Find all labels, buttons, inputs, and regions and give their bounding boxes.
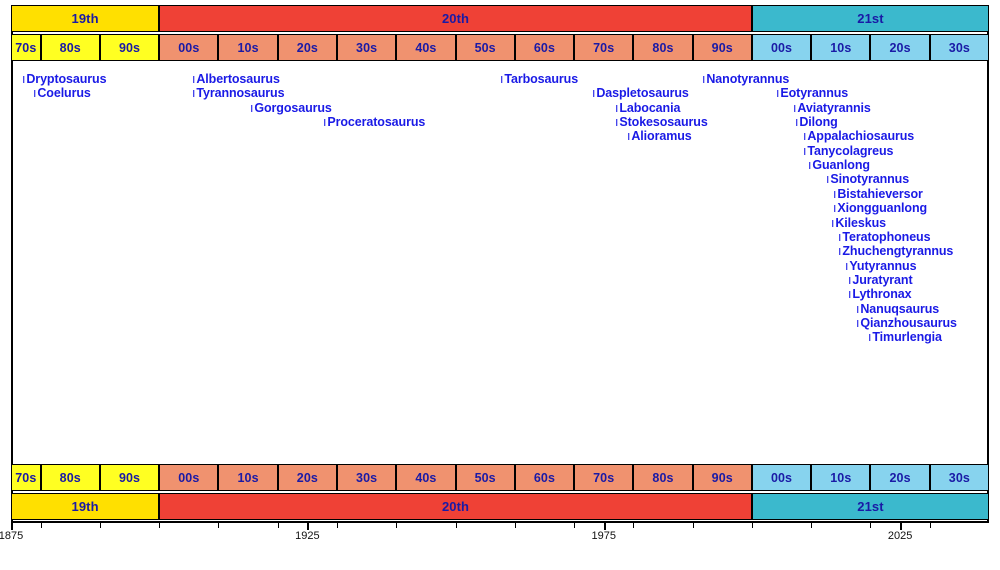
axis-tick-minor	[100, 521, 101, 528]
tick-marker-icon: ı	[833, 187, 836, 201]
century-cell-label: 20th	[442, 499, 469, 514]
species-name: Juratyrant	[852, 273, 912, 287]
axis-tick-minor	[159, 521, 160, 528]
species-name: Teratophoneus	[842, 230, 930, 244]
decade-cell-label: 50s	[475, 41, 496, 55]
tick-marker-icon: ı	[845, 259, 848, 273]
species-name: Alioramus	[631, 129, 691, 143]
tick-marker-icon: ı	[323, 115, 326, 129]
axis-tick-minor	[278, 521, 279, 528]
decade-cell-90s[interactable]: 90s	[693, 464, 752, 491]
decade-cell-00s[interactable]: 00s	[159, 464, 218, 491]
decade-cell-label: 80s	[60, 471, 81, 485]
decade-cell-70s[interactable]: 70s	[11, 464, 41, 491]
decade-cell-40s[interactable]: 40s	[396, 34, 455, 61]
decade-cell-30s[interactable]: 30s	[930, 34, 989, 61]
axis-tick-minor	[41, 521, 42, 528]
axis-tick-minor	[218, 521, 219, 528]
decade-cell-label: 10s	[238, 41, 259, 55]
tick-marker-icon: ı	[838, 244, 841, 258]
species-label[interactable]: ıTanycolagreus	[803, 144, 893, 158]
decade-cell-label: 00s	[771, 471, 792, 485]
decade-cell-80s[interactable]: 80s	[633, 464, 692, 491]
decade-cell-30s[interactable]: 30s	[930, 464, 989, 491]
decade-cell-label: 20s	[890, 471, 911, 485]
axis-tick-label: 1925	[295, 530, 319, 542]
tick-marker-icon: ı	[848, 273, 851, 287]
species-name: Zhuchengtyrannus	[842, 244, 953, 258]
decade-cell-60s[interactable]: 60s	[515, 464, 574, 491]
decade-cell-label: 50s	[475, 471, 496, 485]
decade-cell-00s[interactable]: 00s	[159, 34, 218, 61]
species-name: Kileskus	[835, 216, 886, 230]
species-label[interactable]: ıKileskus	[831, 216, 886, 230]
species-label[interactable]: ıDaspletosaurus	[592, 86, 689, 100]
axis-tick-minor	[870, 521, 871, 528]
tick-marker-icon: ı	[833, 201, 836, 215]
decade-cell-label: 00s	[771, 41, 792, 55]
species-name: Labocania	[619, 101, 680, 115]
axis-tick-minor	[337, 521, 338, 528]
axis-tick-minor	[633, 521, 634, 528]
decade-cell-label: 70s	[593, 41, 614, 55]
century-cell-21st[interactable]: 21st	[752, 5, 989, 32]
century-cell-label: 19th	[72, 11, 99, 26]
decade-cell-label: 80s	[652, 41, 673, 55]
decade-cell-00s[interactable]: 00s	[752, 464, 811, 491]
species-label[interactable]: ıTeratophoneus	[838, 230, 930, 244]
century-cell-label: 21st	[857, 11, 883, 26]
tick-marker-icon: ı	[702, 72, 705, 86]
axis-tick-minor	[456, 521, 457, 528]
tick-marker-icon: ı	[615, 115, 618, 129]
axis-tick-minor	[693, 521, 694, 528]
species-label[interactable]: ıXiongguanlong	[833, 201, 927, 215]
decade-cell-10s[interactable]: 10s	[218, 464, 277, 491]
species-name: Gorgosaurus	[254, 101, 331, 115]
decade-cell-label: 10s	[830, 41, 851, 55]
tick-marker-icon: ı	[803, 129, 806, 143]
decade-cell-80s[interactable]: 80s	[633, 34, 692, 61]
species-name: Bistahieversor	[837, 187, 922, 201]
tick-marker-icon: ı	[868, 330, 871, 344]
decade-cell-60s[interactable]: 60s	[515, 34, 574, 61]
century-band-bottom: 19th20th21st	[11, 493, 989, 520]
axis-tick-minor	[752, 521, 753, 528]
species-name: Qianzhousaurus	[860, 316, 957, 330]
species-label[interactable]: ıZhuchengtyrannus	[838, 244, 953, 258]
species-label[interactable]: ıStokesosaurus	[615, 115, 708, 129]
decade-cell-70s[interactable]: 70s	[574, 34, 633, 61]
decade-cell-10s[interactable]: 10s	[218, 34, 277, 61]
species-name: Aviatyrannis	[797, 101, 870, 115]
century-cell-label: 19th	[72, 499, 99, 514]
tick-marker-icon: ı	[250, 101, 253, 115]
tick-marker-icon: ı	[795, 115, 798, 129]
axis-tick-minor	[574, 521, 575, 528]
species-name: Xiongguanlong	[837, 201, 927, 215]
axis-tick-minor	[396, 521, 397, 528]
decade-cell-00s[interactable]: 00s	[752, 34, 811, 61]
decade-cell-label: 90s	[712, 471, 733, 485]
axis-tick-major	[11, 521, 13, 530]
tick-marker-icon: ı	[856, 316, 859, 330]
axis-tick-major	[900, 521, 902, 530]
species-name: Dryptosaurus	[26, 72, 106, 86]
decade-cell-label: 00s	[178, 41, 199, 55]
tick-marker-icon: ı	[627, 129, 630, 143]
species-label[interactable]: ıAppalachiosaurus	[803, 129, 914, 143]
decade-cell-30s[interactable]: 30s	[337, 464, 396, 491]
species-label[interactable]: ıNanotyrannus	[702, 72, 789, 86]
species-label[interactable]: ıBistahieversor	[833, 187, 923, 201]
species-name: Timurlengia	[872, 330, 942, 344]
century-band-top: 19th20th21st	[11, 5, 989, 32]
decade-cell-label: 20s	[297, 41, 318, 55]
century-cell-21st[interactable]: 21st	[752, 493, 989, 520]
century-cell-20th[interactable]: 20th	[159, 5, 752, 32]
species-name: Yutyrannus	[849, 259, 916, 273]
decade-cell-label: 70s	[15, 41, 36, 55]
decade-cell-70s[interactable]: 70s	[11, 34, 41, 61]
century-cell-label: 20th	[442, 11, 469, 26]
decade-cell-label: 70s	[593, 471, 614, 485]
decade-cell-20s[interactable]: 20s	[278, 464, 337, 491]
species-label[interactable]: ıTarbosaurus	[500, 72, 578, 86]
decade-cell-80s[interactable]: 80s	[41, 34, 100, 61]
species-label[interactable]: ıTimurlengia	[868, 330, 942, 344]
x-axis-line	[11, 521, 989, 523]
axis-tick-label: 2025	[888, 530, 912, 542]
decade-cell-label: 80s	[652, 471, 673, 485]
decade-cell-label: 60s	[534, 41, 555, 55]
decade-cell-90s[interactable]: 90s	[693, 34, 752, 61]
decade-cell-20s[interactable]: 20s	[278, 34, 337, 61]
species-label[interactable]: ıNanuqsaurus	[856, 302, 939, 316]
decade-cell-90s[interactable]: 90s	[100, 464, 159, 491]
decade-cell-label: 90s	[119, 41, 140, 55]
species-name: Appalachiosaurus	[807, 129, 914, 143]
decade-cell-label: 90s	[119, 471, 140, 485]
decade-cell-label: 10s	[238, 471, 259, 485]
species-name: Tyrannosaurus	[196, 86, 284, 100]
decade-cell-80s[interactable]: 80s	[41, 464, 100, 491]
species-label[interactable]: ıEotyrannus	[776, 86, 848, 100]
species-label[interactable]: ıTyrannosaurus	[192, 86, 284, 100]
species-label[interactable]: ıQianzhousaurus	[856, 316, 957, 330]
decade-cell-label: 30s	[949, 471, 970, 485]
species-name: Stokesosaurus	[619, 115, 707, 129]
decade-cell-label: 40s	[415, 471, 436, 485]
tick-marker-icon: ı	[826, 172, 829, 186]
timeline-chart: 19th20th21st 70s80s90s00s10s20s30s40s50s…	[0, 0, 1000, 570]
decade-cell-label: 30s	[949, 41, 970, 55]
species-label[interactable]: ıLabocania	[615, 101, 680, 115]
species-label[interactable]: ıAviatyrannis	[793, 101, 871, 115]
species-label[interactable]: ıLythronax	[848, 287, 911, 301]
decade-cell-20s[interactable]: 20s	[870, 464, 929, 491]
century-cell-19th[interactable]: 19th	[11, 5, 159, 32]
species-name: Nanotyrannus	[706, 72, 789, 86]
axis-tick-minor	[811, 521, 812, 528]
axis-tick-label: 1975	[591, 530, 615, 542]
decade-cell-label: 40s	[415, 41, 436, 55]
species-name: Daspletosaurus	[596, 86, 688, 100]
species-name: Tanycolagreus	[807, 144, 893, 158]
decade-cell-label: 60s	[534, 471, 555, 485]
decade-cell-label: 70s	[15, 471, 36, 485]
species-label[interactable]: ıYutyrannus	[845, 259, 916, 273]
tick-marker-icon: ı	[500, 72, 503, 86]
species-label[interactable]: ıCoelurus	[33, 86, 91, 100]
species-name: Nanuqsaurus	[860, 302, 939, 316]
species-name: Tarbosaurus	[504, 72, 578, 86]
species-name: Coelurus	[37, 86, 90, 100]
species-label[interactable]: ıDryptosaurus	[22, 72, 106, 86]
tick-marker-icon: ı	[22, 72, 25, 86]
species-name: Albertosaurus	[196, 72, 279, 86]
species-name: Guanlong	[812, 158, 870, 172]
tick-marker-icon: ı	[856, 302, 859, 316]
axis-tick-major	[604, 521, 606, 530]
decade-cell-40s[interactable]: 40s	[396, 464, 455, 491]
decade-cell-50s[interactable]: 50s	[456, 464, 515, 491]
tick-marker-icon: ı	[848, 287, 851, 301]
decade-cell-90s[interactable]: 90s	[100, 34, 159, 61]
century-cell-20th[interactable]: 20th	[159, 493, 752, 520]
century-cell-label: 21st	[857, 499, 883, 514]
decade-cell-label: 80s	[60, 41, 81, 55]
decade-cell-10s[interactable]: 10s	[811, 34, 870, 61]
species-label[interactable]: ıProceratosaurus	[323, 115, 425, 129]
species-label[interactable]: ıSinotyrannus	[826, 172, 909, 186]
decade-cell-label: 10s	[830, 471, 851, 485]
decade-cell-label: 20s	[890, 41, 911, 55]
species-name: Sinotyrannus	[830, 172, 909, 186]
tick-marker-icon: ı	[33, 86, 36, 100]
decade-band-top: 70s80s90s00s10s20s30s40s50s60s70s80s90s0…	[11, 34, 989, 61]
decade-cell-30s[interactable]: 30s	[337, 34, 396, 61]
decade-cell-label: 00s	[178, 471, 199, 485]
tick-marker-icon: ı	[838, 230, 841, 244]
species-label[interactable]: ıAlbertosaurus	[192, 72, 280, 86]
decade-cell-label: 30s	[356, 471, 377, 485]
tick-marker-icon: ı	[803, 144, 806, 158]
species-label[interactable]: ıGuanlong	[808, 158, 870, 172]
decade-cell-10s[interactable]: 10s	[811, 464, 870, 491]
tick-marker-icon: ı	[192, 86, 195, 100]
tick-marker-icon: ı	[831, 216, 834, 230]
tick-marker-icon: ı	[615, 101, 618, 115]
tick-marker-icon: ı	[192, 72, 195, 86]
decade-cell-70s[interactable]: 70s	[574, 464, 633, 491]
decade-cell-50s[interactable]: 50s	[456, 34, 515, 61]
species-name: Proceratosaurus	[327, 115, 425, 129]
axis-tick-label: 1875	[0, 530, 23, 542]
decade-band-bottom: 70s80s90s00s10s20s30s40s50s60s70s80s90s0…	[11, 464, 989, 491]
decade-cell-label: 20s	[297, 471, 318, 485]
tick-marker-icon: ı	[776, 86, 779, 100]
species-name: Eotyrannus	[780, 86, 848, 100]
decade-cell-label: 30s	[356, 41, 377, 55]
species-label[interactable]: ıDilong	[795, 115, 838, 129]
decade-cell-label: 90s	[712, 41, 733, 55]
axis-tick-major	[307, 521, 309, 530]
species-name: Lythronax	[852, 287, 911, 301]
species-name: Dilong	[799, 115, 837, 129]
species-label[interactable]: ıAlioramus	[627, 129, 692, 143]
tick-marker-icon: ı	[808, 158, 811, 172]
axis-tick-minor	[515, 521, 516, 528]
tick-marker-icon: ı	[793, 101, 796, 115]
axis-tick-minor	[930, 521, 931, 528]
century-cell-19th[interactable]: 19th	[11, 493, 159, 520]
tick-marker-icon: ı	[592, 86, 595, 100]
decade-cell-20s[interactable]: 20s	[870, 34, 929, 61]
species-label[interactable]: ıJuratyrant	[848, 273, 913, 287]
species-label[interactable]: ıGorgosaurus	[250, 101, 332, 115]
